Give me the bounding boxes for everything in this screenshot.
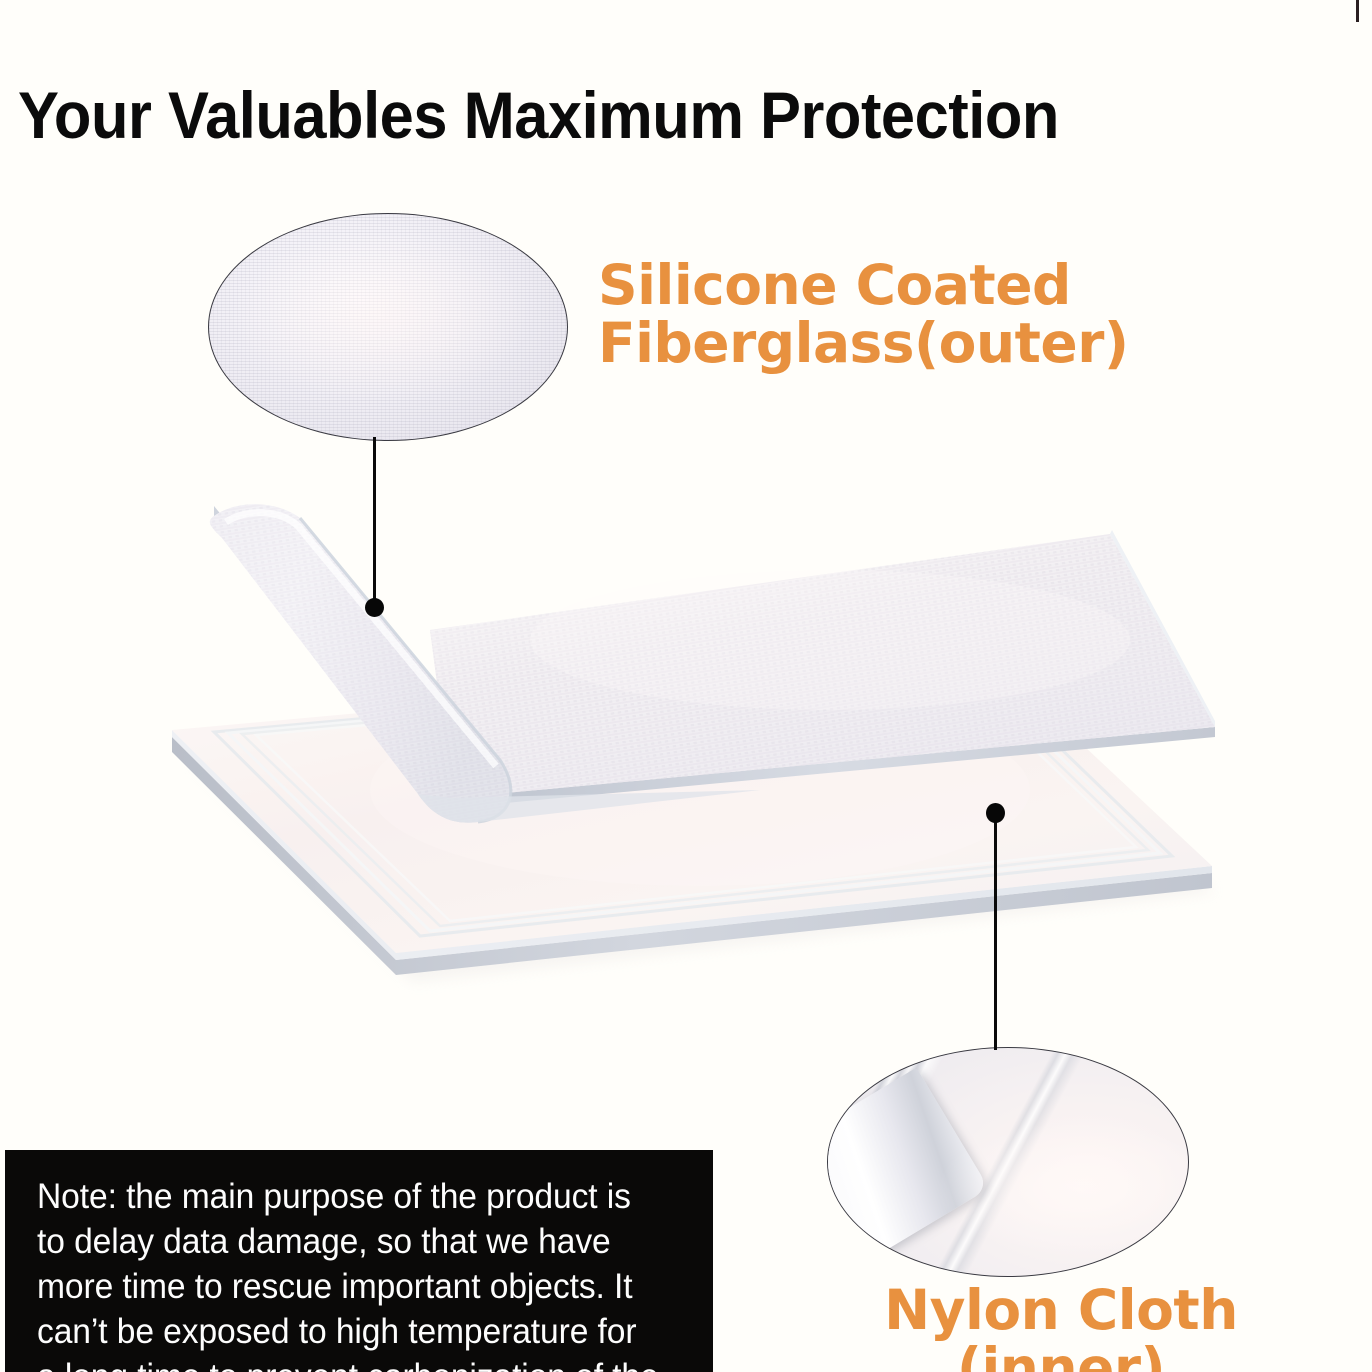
nylon-sheen-highlight [828,1048,1188,1276]
leader-line-inner [994,812,997,1050]
leader-line-outer [373,437,376,609]
top-right-edge-artifact [1356,0,1359,22]
callout-inner-line1: Nylon Cloth [884,1278,1238,1342]
callout-label-inner: Nylon Cloth (inner) [846,1281,1276,1372]
nylon-zoom-ellipse [827,1047,1189,1277]
callout-outer-line2: Fiberglass(outer) [598,314,1138,372]
infographic-canvas: Your Valuables Maximum Protection [0,0,1372,1372]
fiberglass-zoom-ellipse [208,213,568,441]
product-illustration [0,460,1372,1060]
page-title: Your Valuables Maximum Protection [18,78,1060,152]
leader-dot-outer [365,598,384,617]
callout-outer-line1: Silicone Coated [598,253,1071,317]
note-text: Note: the main purpose of the product is… [37,1174,661,1372]
leader-dot-inner [986,803,1005,823]
note-box: Note: the main purpose of the product is… [5,1150,713,1372]
callout-inner-line2: (inner) [846,1339,1276,1372]
callout-label-outer: Silicone Coated Fiberglass(outer) [598,256,1138,373]
